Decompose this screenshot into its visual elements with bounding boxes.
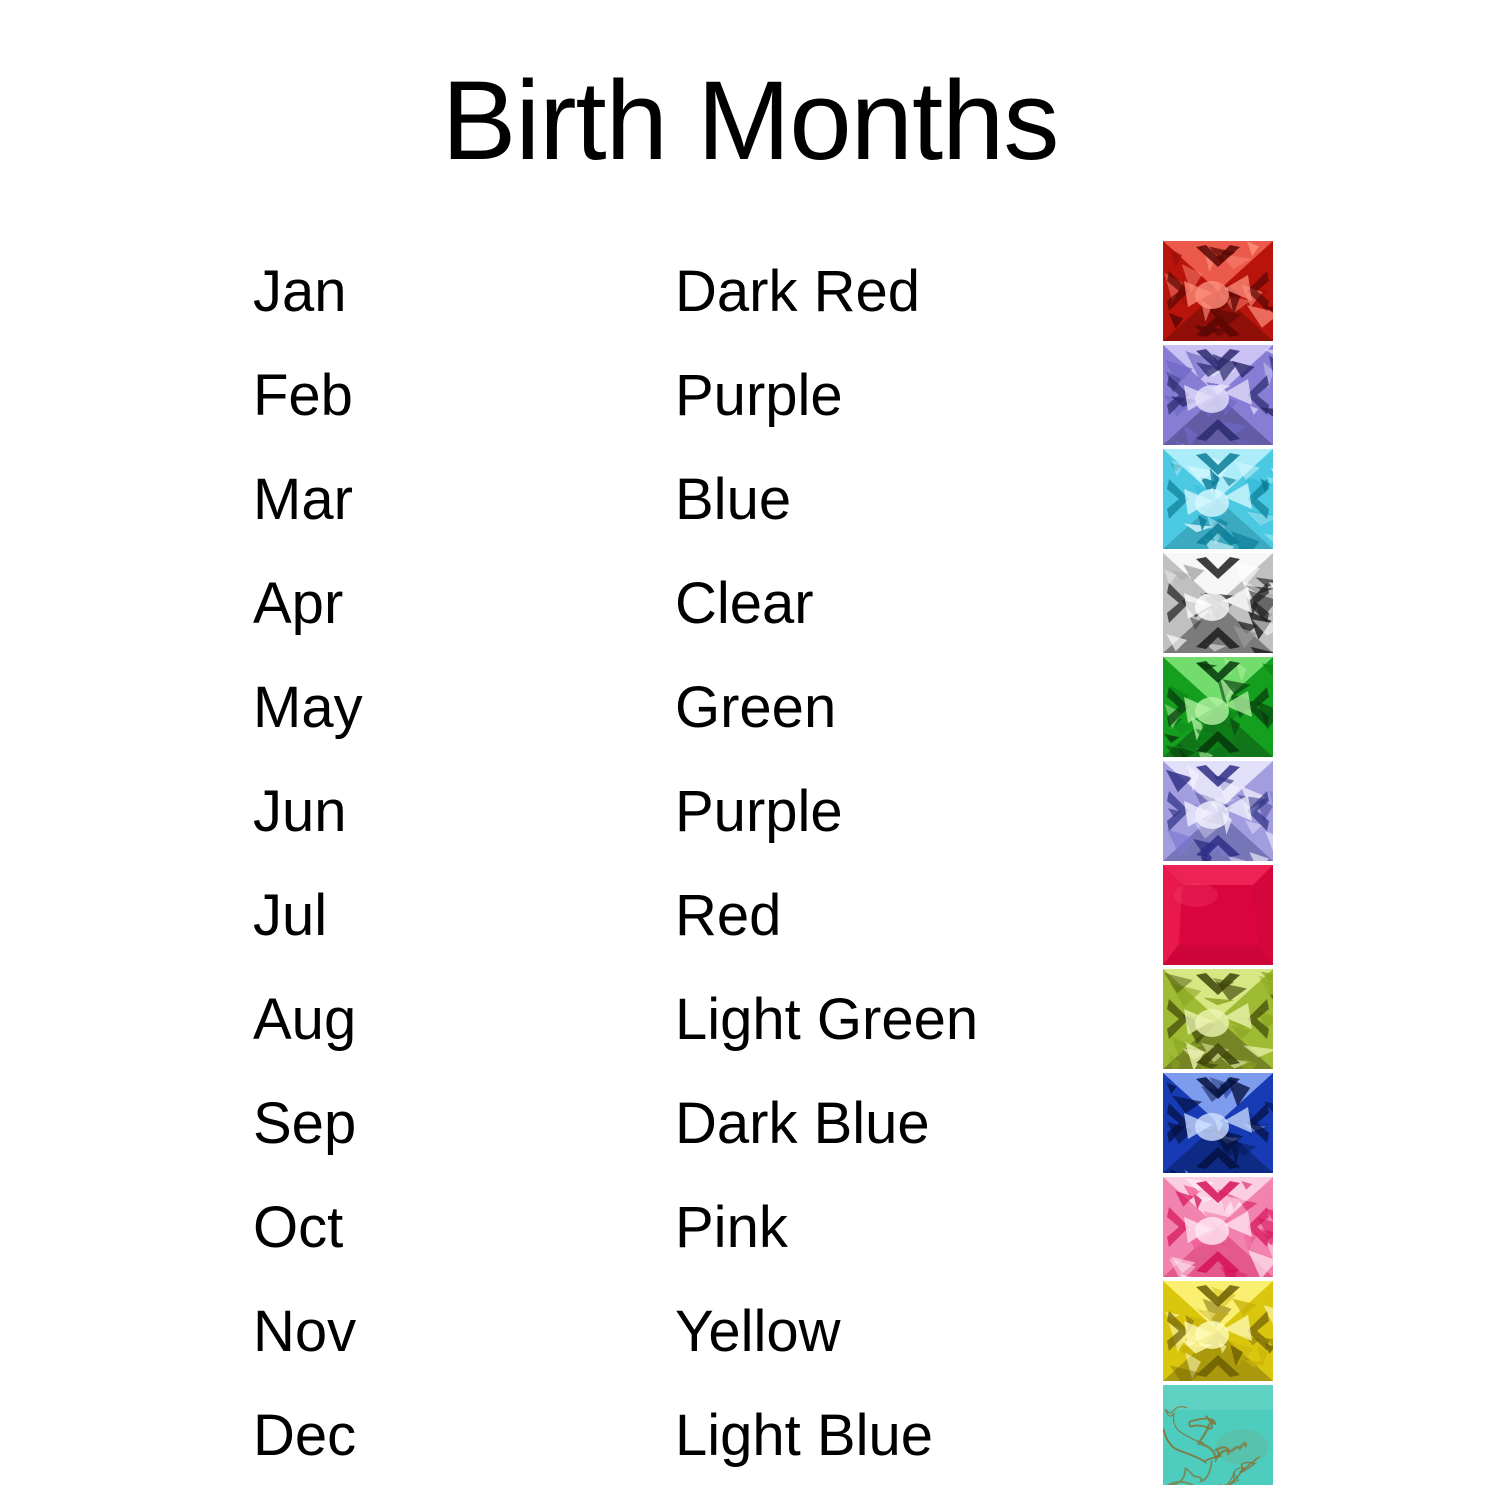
color-label: Green: [675, 656, 1145, 760]
table-row: OctPink: [0, 1176, 1500, 1280]
amethyst-gem: [1163, 345, 1273, 445]
month-label: Sep: [253, 1072, 633, 1176]
birth-months-table: JanDark RedFebPurpleMarBlueAprClearMayGr…: [0, 240, 1500, 1488]
gem-swatch: [1163, 1177, 1273, 1277]
gem-swatch: [1163, 657, 1273, 757]
color-label: Dark Red: [675, 240, 1145, 344]
gem-swatch: [1163, 761, 1273, 861]
color-label: Clear: [675, 552, 1145, 656]
ruby-gem: [1163, 865, 1273, 965]
color-label: Pink: [675, 1176, 1145, 1280]
color-label: Dark Blue: [675, 1072, 1145, 1176]
table-row: DecLight Blue: [0, 1384, 1500, 1488]
alexandrite-gem: [1163, 761, 1273, 861]
month-label: Jun: [253, 760, 633, 864]
gem-swatch: [1163, 241, 1273, 341]
color-label: Purple: [675, 760, 1145, 864]
table-row: FebPurple: [0, 344, 1500, 448]
month-label: May: [253, 656, 633, 760]
sapphire-gem: [1163, 1073, 1273, 1173]
month-label: Mar: [253, 448, 633, 552]
birth-months-page: Birth Months JanDark RedFebPurpleMarBlue…: [0, 0, 1500, 1500]
gem-swatch: [1163, 865, 1273, 965]
month-label: Oct: [253, 1176, 633, 1280]
tourmaline-gem: [1163, 1177, 1273, 1277]
gem-swatch: [1163, 1073, 1273, 1173]
emerald-gem: [1163, 657, 1273, 757]
diamond-gem: [1163, 553, 1273, 653]
peridot-gem: [1163, 969, 1273, 1069]
color-label: Yellow: [675, 1280, 1145, 1384]
color-label: Red: [675, 864, 1145, 968]
citrine-gem: [1163, 1281, 1273, 1381]
gem-swatch: [1163, 345, 1273, 445]
color-label: Blue: [675, 448, 1145, 552]
gem-swatch: [1163, 1385, 1273, 1485]
page-title: Birth Months: [0, 62, 1500, 180]
aquamarine-gem: [1163, 449, 1273, 549]
gem-swatch: [1163, 449, 1273, 549]
color-label: Light Blue: [675, 1384, 1145, 1488]
gem-swatch: [1163, 969, 1273, 1069]
gem-swatch: [1163, 553, 1273, 653]
table-row: NovYellow: [0, 1280, 1500, 1384]
table-row: AprClear: [0, 552, 1500, 656]
month-label: Jan: [253, 240, 633, 344]
month-label: Nov: [253, 1280, 633, 1384]
month-label: Dec: [253, 1384, 633, 1488]
table-row: JulRed: [0, 864, 1500, 968]
table-row: JunPurple: [0, 760, 1500, 864]
month-label: Apr: [253, 552, 633, 656]
table-row: MayGreen: [0, 656, 1500, 760]
turquoise-gem: [1163, 1385, 1273, 1485]
table-row: AugLight Green: [0, 968, 1500, 1072]
gem-swatch: [1163, 1281, 1273, 1381]
color-label: Purple: [675, 344, 1145, 448]
garnet-gem: [1163, 241, 1273, 341]
table-row: SepDark Blue: [0, 1072, 1500, 1176]
table-row: JanDark Red: [0, 240, 1500, 344]
color-label: Light Green: [675, 968, 1145, 1072]
month-label: Jul: [253, 864, 633, 968]
month-label: Aug: [253, 968, 633, 1072]
month-label: Feb: [253, 344, 633, 448]
table-row: MarBlue: [0, 448, 1500, 552]
